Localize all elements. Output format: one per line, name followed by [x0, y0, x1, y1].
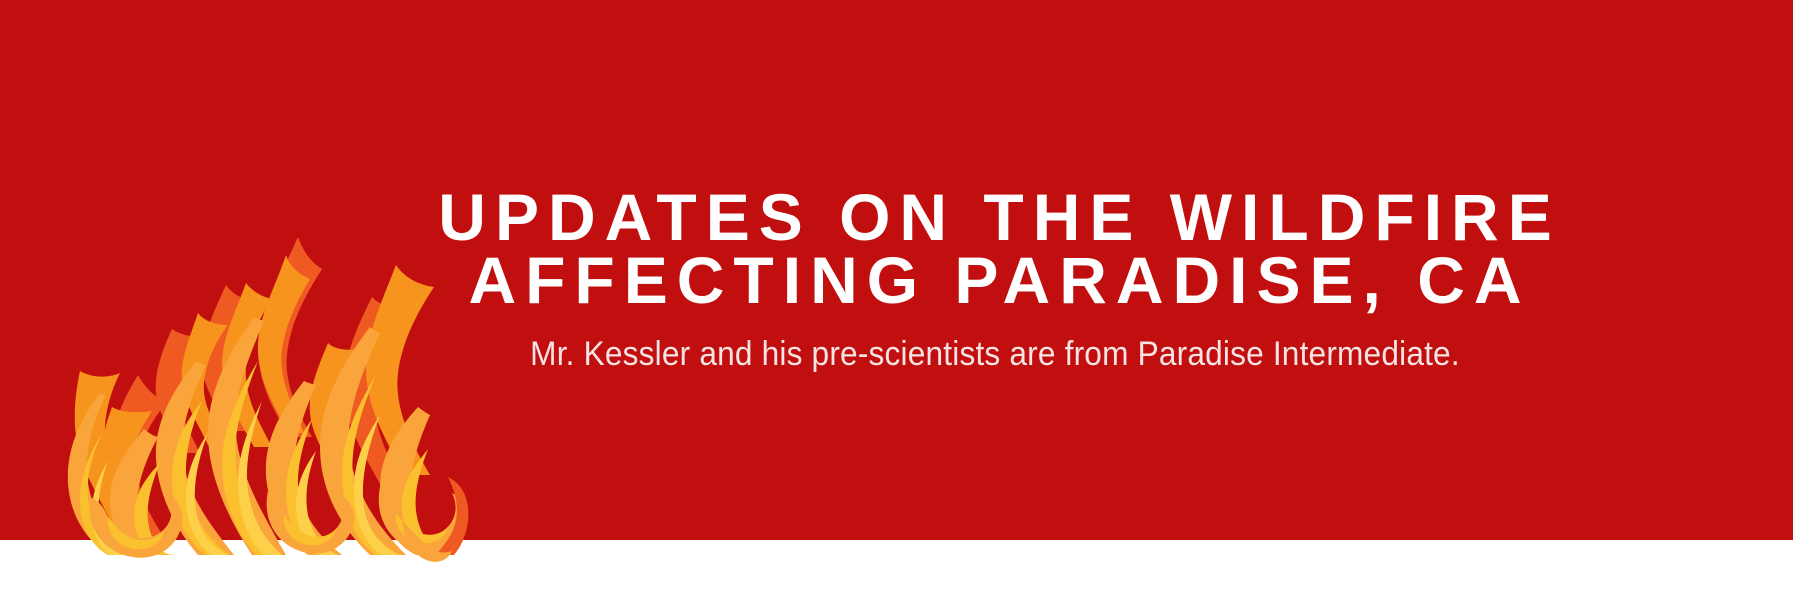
headline-block: Updates on the Wildfire Affecting Paradi…: [330, 186, 1660, 374]
page-title-line-1: Updates on the Wildfire: [330, 186, 1660, 249]
wildfire-banner: Updates on the Wildfire Affecting Paradi…: [0, 0, 1800, 600]
page-title-line-2: Affecting Paradise, CA: [330, 249, 1660, 312]
page-subtitle: Mr. Kessler and his pre-scientists are f…: [377, 334, 1614, 374]
